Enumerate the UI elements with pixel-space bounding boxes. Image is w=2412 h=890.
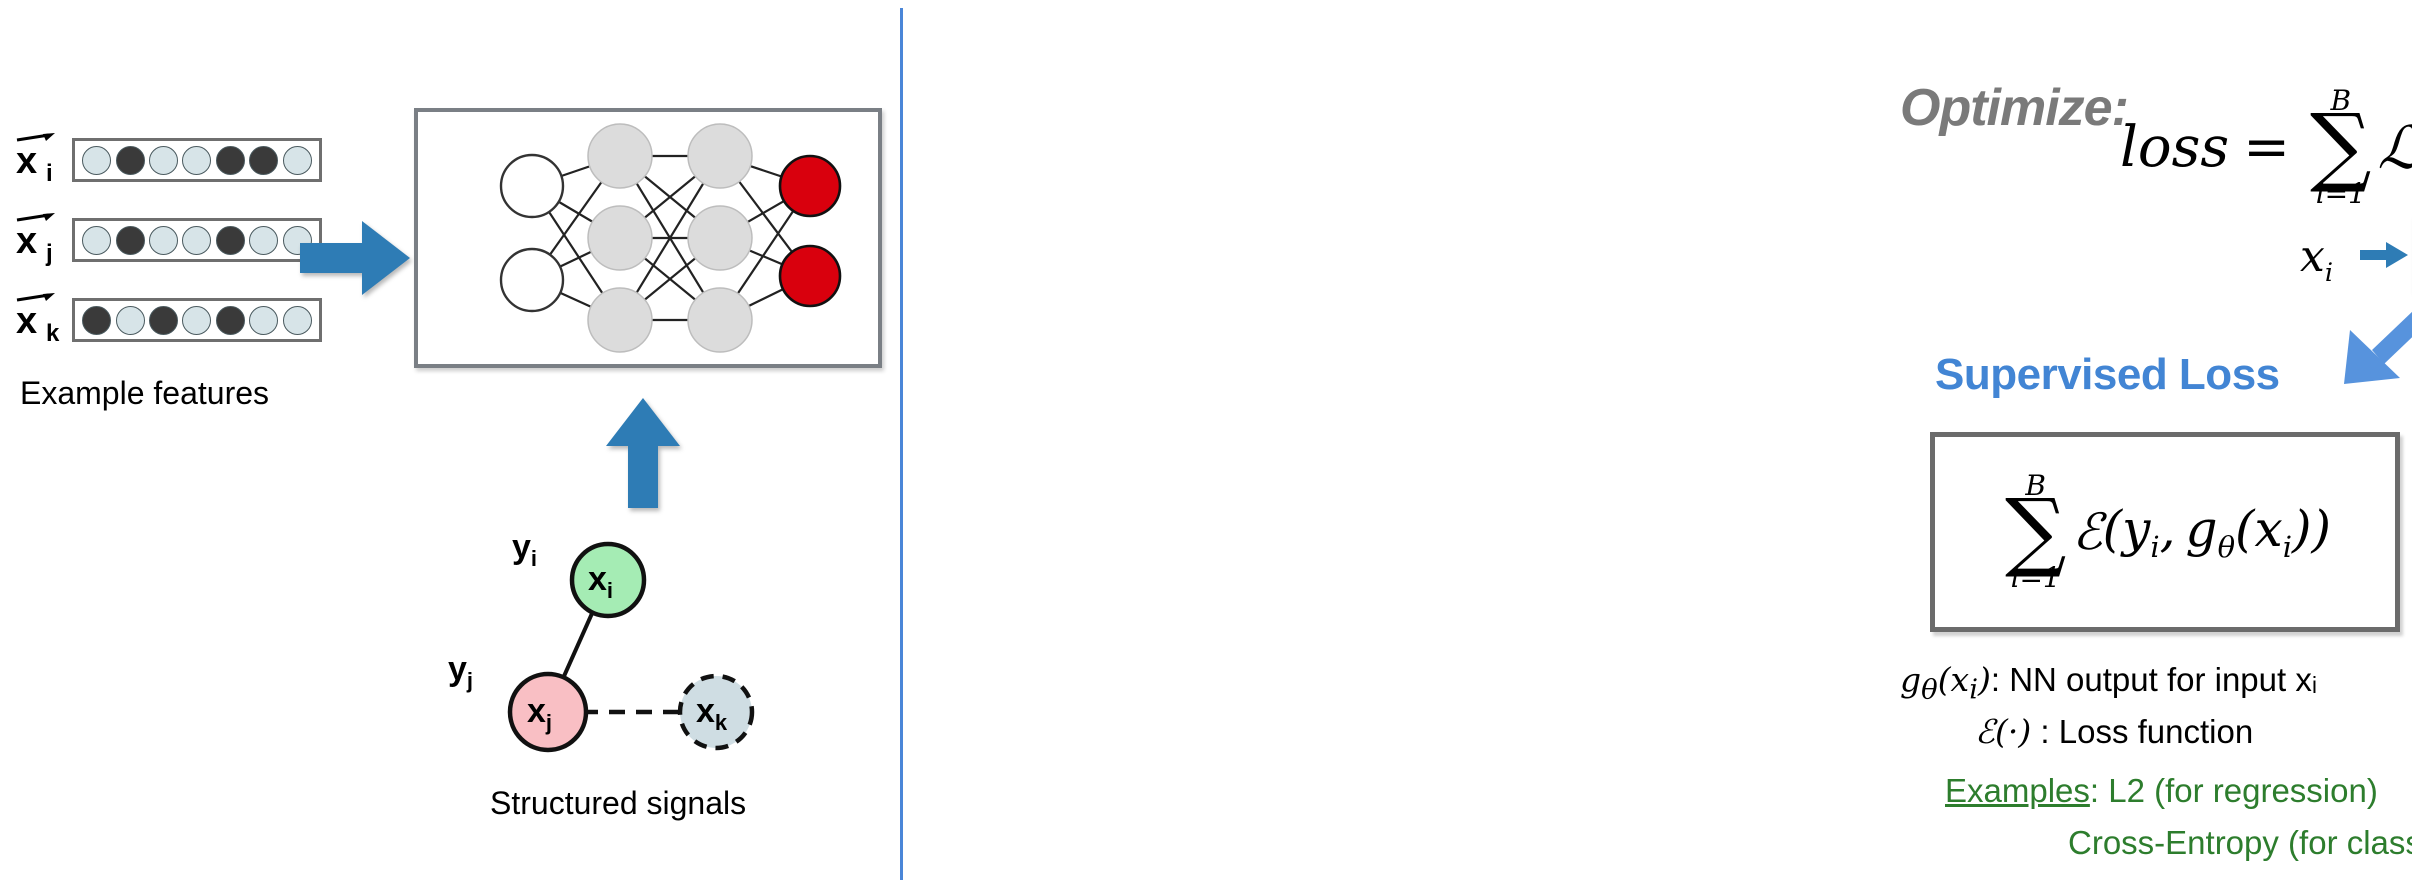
feature-vector-box [72,298,322,342]
graph-node-label-xi: xi [588,560,613,604]
feature-cell [182,146,211,175]
feature-symbol: x [16,302,37,340]
supervised-legend-line-2: ℰ(·) : Loss function [1975,712,2253,751]
supervised-loss-heading: Supervised Loss [1935,350,2280,400]
feature-cell [182,226,211,255]
nn-hidden-node [588,288,652,352]
pipeline-input-label: xi [2300,231,2333,288]
graph-node-label-xk: xk [696,692,727,736]
nn-hidden-node [588,206,652,270]
feature-vector-box [72,218,322,262]
formula-sum: B ∑ i=1 [2005,472,2066,593]
optimize-label: Optimize: [1900,78,2128,138]
feature-vector-box [72,138,322,182]
neural-network-diagram [414,108,882,368]
feature-cell [283,146,312,175]
feature-cell [149,226,178,255]
left-panel: x i x j [0,0,900,890]
formula-loss-term: loss [2120,115,2229,180]
sigma-glyph: ∑ [2310,111,2371,182]
feature-cell [283,306,312,335]
feature-cell [82,226,111,255]
feature-cell [116,306,145,335]
nn-hidden-node [688,124,752,188]
nn-output-node [780,156,840,216]
nn-input-node [501,249,563,311]
feature-cell [216,226,245,255]
formula-equals: = [2243,115,2290,180]
nn-input-node [501,155,563,217]
nn-output-node [780,246,840,306]
supervised-legend-line-1: gθ(xi): NN output for input xᵢ [1900,660,2317,706]
structured-signals-caption: Structured signals [490,785,746,822]
supervised-examples-line-1: Examples: L2 (for regression) [1945,772,2378,810]
nn-hidden-node [688,206,752,270]
input-arrow-icon [300,215,410,301]
right-panel: Optimize: loss = B ∑ i=1 ℒ(yi, ŷi) + α B… [900,0,2412,890]
pipeline-arrow-in-icon [2360,241,2408,269]
feature-cell [216,146,245,175]
feature-cell [149,306,178,335]
feature-cell [116,146,145,175]
feature-symbol: x [16,142,37,180]
feature-vector-label-xj: x j [10,212,70,270]
supervised-examples-line-2: Cross-Entropy (for classification) [2068,824,2412,862]
graph-node-ylabel-yi: yi [512,528,537,572]
formula-sum-1: B ∑ i=1 [2310,87,2371,208]
graph-node-label-xj: xj [527,692,552,736]
sum-lower-limit: i=1 [2316,180,2366,208]
feature-vector-label-xi: x i [10,132,70,190]
calE-glyph: ℰ [2072,503,2102,561]
sigma-glyph: ∑ [2005,496,2066,567]
feature-cell [216,306,245,335]
feature-cell [149,146,178,175]
supervised-loss-formula: B ∑ i=1 ℰ(yi, gθ(xi)) [1935,437,2395,627]
calL-glyph: ℒ [2377,113,2412,182]
sum-lower-limit: i=1 [2011,564,2061,592]
graph-node-ylabel-yj: yj [448,650,473,694]
feature-subscript: k [46,322,59,346]
supervised-loss-arrow-icon [2340,268,2412,388]
feature-vector-label-xk: x k [10,292,70,350]
feature-cell [249,146,278,175]
feature-cell [249,306,278,335]
main-loss-formula: loss = B ∑ i=1 ℒ(yi, ŷi) + α B ∑ i=1 ℒ𝒩(… [2120,40,2412,255]
feature-cell [249,226,278,255]
feature-symbol: x [16,222,37,260]
feature-cell [82,306,111,335]
supervised-loss-box: B ∑ i=1 ℰ(yi, gθ(xi)) [1930,432,2400,632]
example-features-caption: Example features [20,375,269,412]
examples-label: Examples [1945,772,2090,809]
signals-arrow-icon [600,398,686,508]
feature-subscript: j [46,242,53,266]
nn-hidden-node [588,124,652,188]
nn-hidden-node [688,288,752,352]
feature-cell [116,226,145,255]
feature-cell [182,306,211,335]
feature-subscript: i [46,162,53,186]
feature-cell [82,146,111,175]
